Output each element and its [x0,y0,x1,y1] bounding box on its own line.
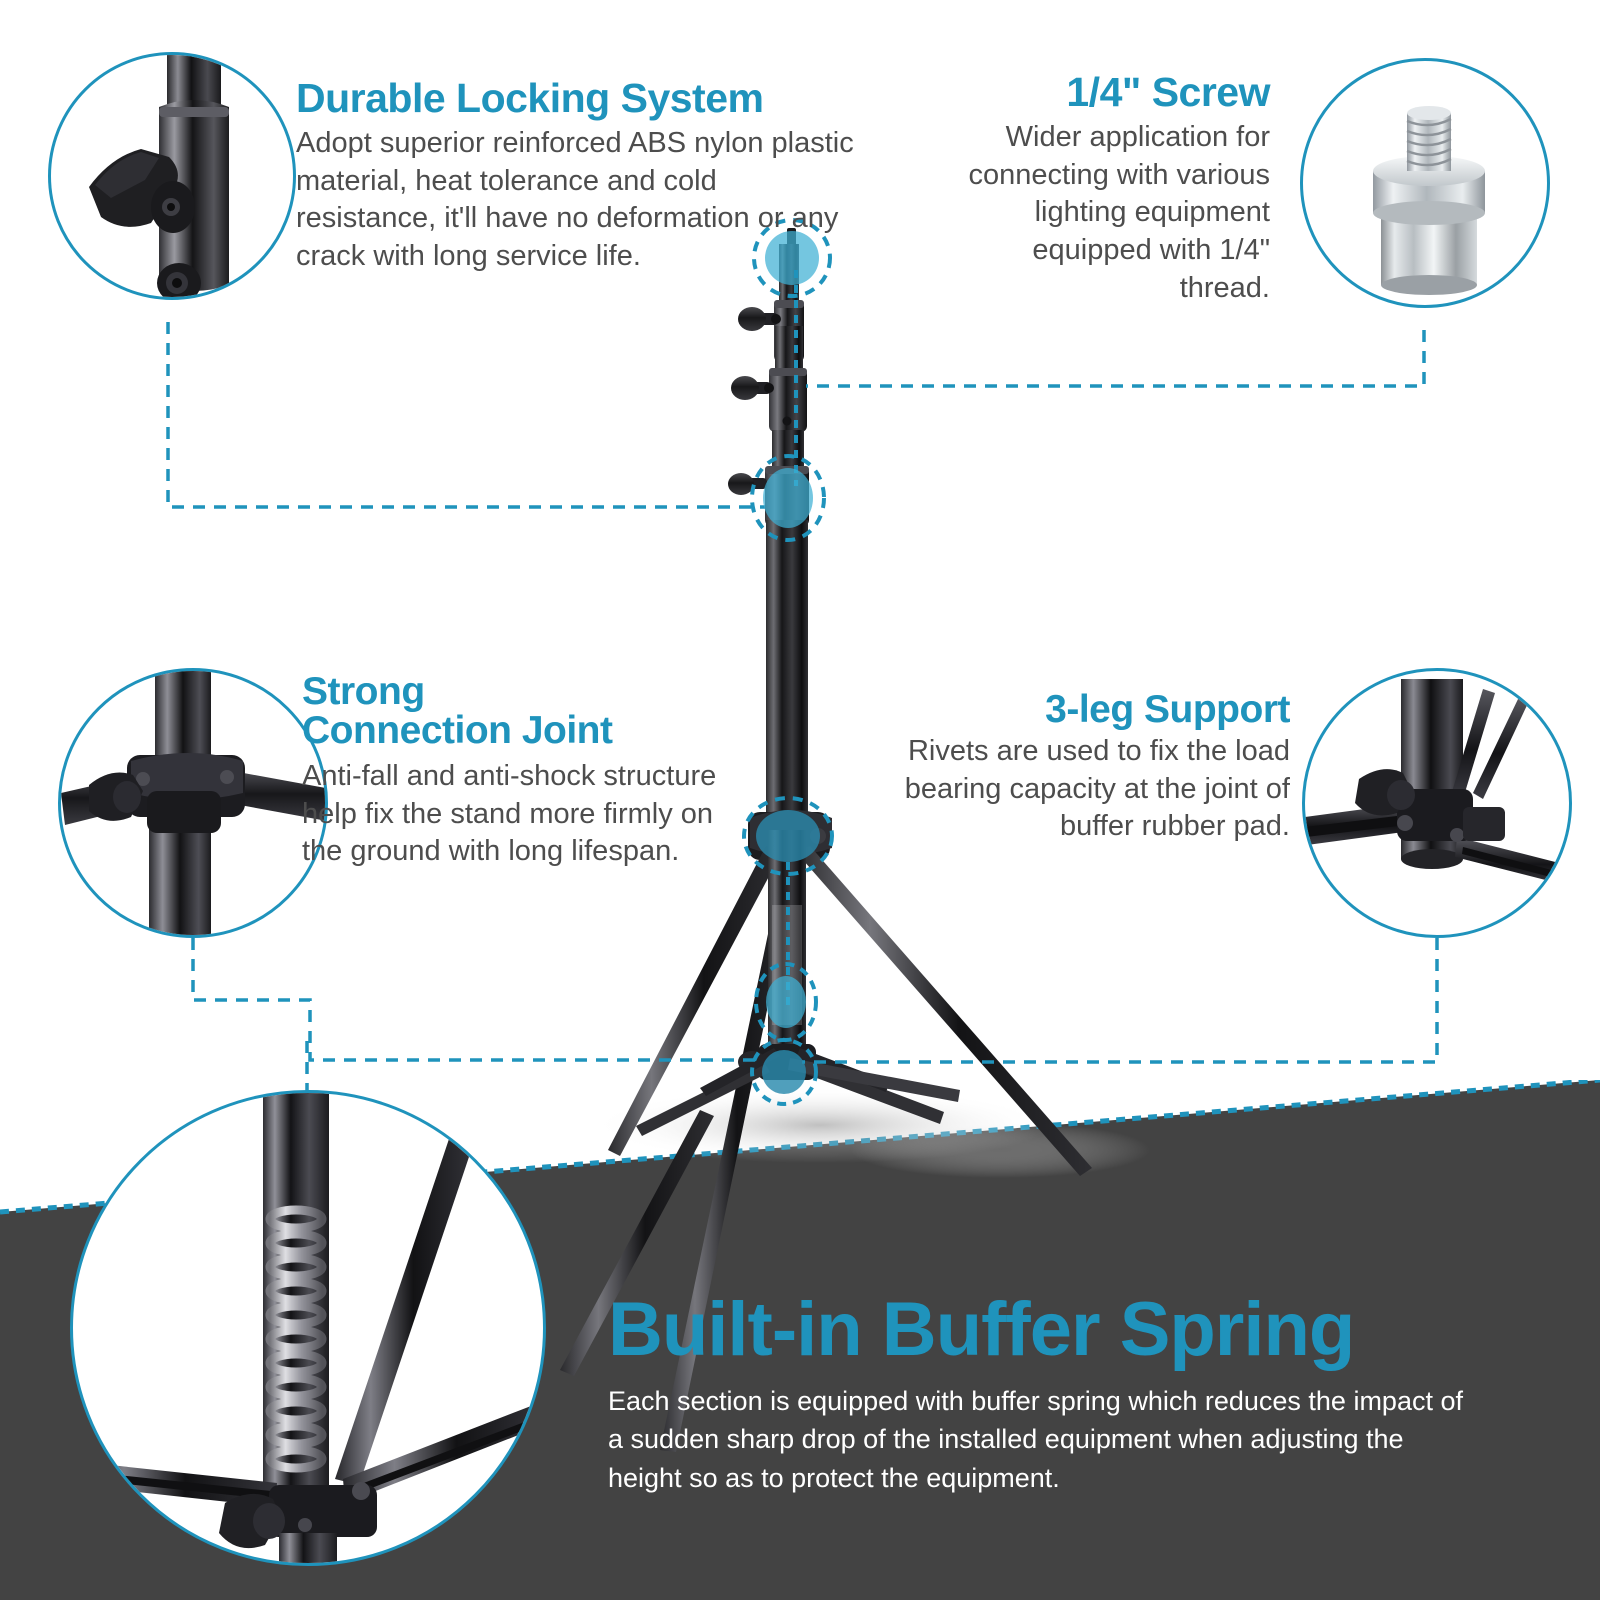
buffer-spring-xray-small [772,905,802,1025]
feature-block-connection-joint: Strong Connection Joint Anti-fall and an… [302,672,722,871]
feature-title-three-leg-support: 3-leg Support [900,690,1290,729]
feature-block-screw: 1/4" Screw Wider application for connect… [940,72,1270,307]
locking-lever-icon [51,55,296,300]
tripod-base-icon [1305,671,1572,938]
callout-circle-locking-system [48,52,296,300]
leg-joint-icon [61,671,328,938]
callout-circle-buffer-spring [70,1090,546,1566]
feature-block-locking-system: Durable Locking System Adopt superior re… [296,78,856,276]
callout-circle-three-leg-support [1302,668,1572,938]
feature-title-screw: 1/4" Screw [940,72,1270,113]
feature-title-buffer-spring: Built-in Buffer Spring [608,1292,1478,1368]
feature-body-three-leg-support: Rivets are used to fix the load bearing … [900,733,1290,846]
feature-title-connection-joint-line2: Connection Joint [302,711,722,750]
lock-knob-mid [731,376,774,400]
feature-body-screw: Wider application for connecting with va… [940,119,1270,307]
lock-knob-lower [728,473,767,495]
feature-body-locking-system: Adopt superior reinforced ABS nylon plas… [296,125,856,276]
infographic-canvas: Durable Locking System Adopt superior re… [0,0,1600,1600]
feature-block-three-leg-support: 3-leg Support Rivets are used to fix the… [900,690,1290,846]
screw-adapter-icon [1303,61,1550,308]
callout-circle-screw [1300,58,1550,308]
callout-circle-connection-joint [58,668,328,938]
feature-title-locking-system: Durable Locking System [296,78,856,119]
feature-block-buffer-spring: Built-in Buffer Spring Each section is e… [608,1292,1478,1497]
buffer-spring-icon [73,1093,546,1566]
feature-body-connection-joint: Anti-fall and anti-shock structure help … [302,758,722,871]
feature-title-connection-joint-line1: Strong [302,672,722,711]
feature-body-buffer-spring: Each section is equipped with buffer spr… [608,1382,1478,1497]
